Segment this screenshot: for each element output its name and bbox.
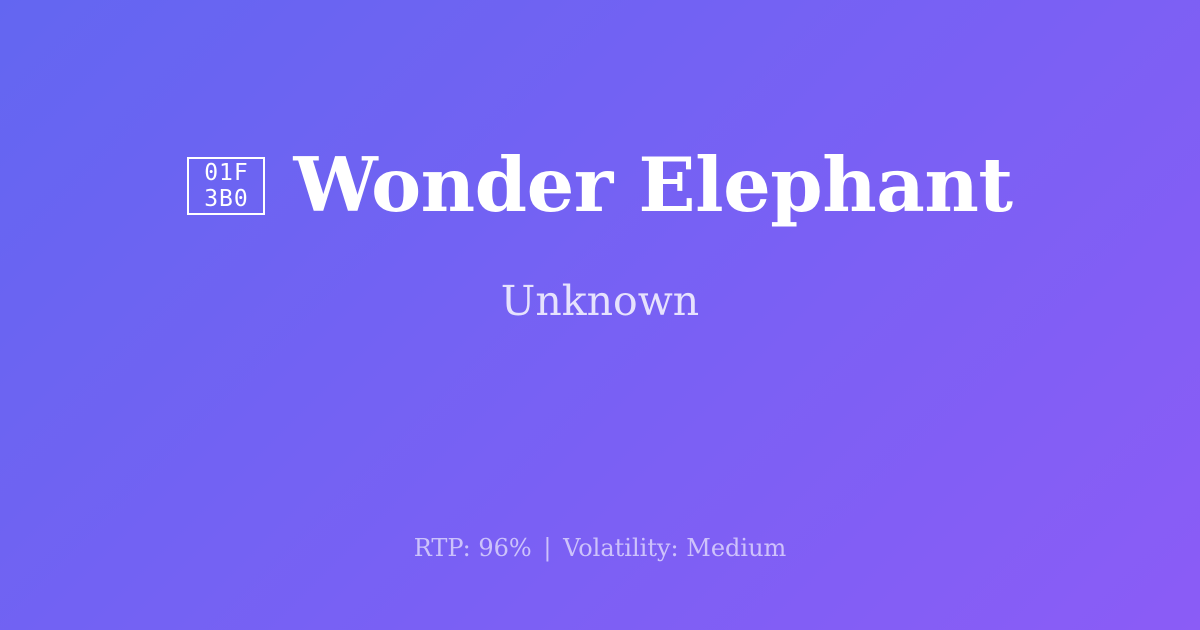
glyph-hex-top: 01F (204, 160, 249, 186)
footer-separator: | (539, 534, 555, 562)
slot-machine-icon: 01F 3B0 (187, 157, 265, 215)
share-card: 01F 3B0 Wonder Elephant Unknown RTP: 96%… (0, 0, 1200, 630)
page-title: Wonder Elephant (293, 148, 1012, 223)
stats-footer: RTP: 96% | Volatility: Medium (0, 536, 1200, 560)
rtp-value: 96% (478, 534, 531, 562)
volatility-label: Volatility: (563, 534, 679, 562)
volatility-value: Medium (686, 534, 786, 562)
page-subtitle: Unknown (501, 281, 699, 322)
rtp-label: RTP: (414, 534, 471, 562)
title-row: 01F 3B0 Wonder Elephant (187, 148, 1012, 223)
hero-section: 01F 3B0 Wonder Elephant Unknown (0, 0, 1200, 470)
glyph-hex-bottom: 3B0 (204, 186, 249, 212)
